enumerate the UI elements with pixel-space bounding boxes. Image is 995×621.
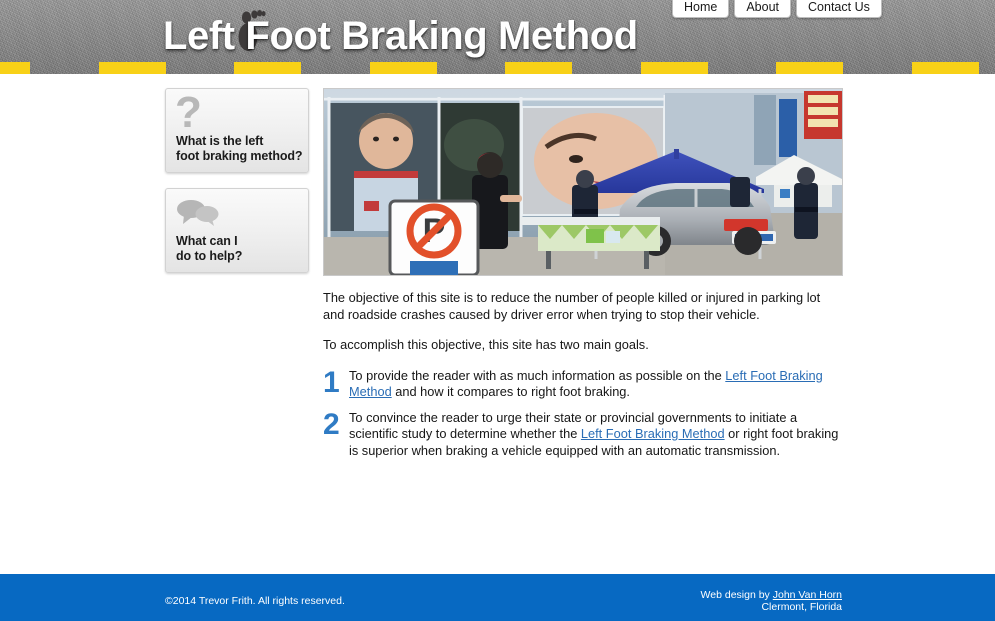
- nav-item-home[interactable]: Home: [672, 0, 729, 18]
- sidebar: ? What is the left foot braking method?: [165, 88, 309, 288]
- credit-prefix: Web design by: [701, 589, 773, 601]
- sidebar-item-label-line1: What is the left: [176, 134, 263, 148]
- intro-paragraph-2: To accomplish this objective, this site …: [323, 337, 843, 354]
- nav-item-contact-us[interactable]: Contact Us: [796, 0, 882, 18]
- left-foot-braking-method-link[interactable]: Left Foot Braking Method: [581, 426, 725, 441]
- goal-item-2: 2 To convince the reader to urge their s…: [323, 410, 843, 460]
- road-stripe-dash: [234, 62, 301, 74]
- main-region: ? What is the left foot braking method?: [0, 74, 995, 574]
- sidebar-item-label-line2: foot braking method?: [176, 149, 302, 163]
- road-stripe-dash: [370, 62, 437, 74]
- goals-list: 1 To provide the reader with as much inf…: [323, 368, 843, 460]
- two-column-layout: ? What is the left foot braking method?: [165, 88, 843, 468]
- credit-location: Clermont, Florida: [761, 601, 842, 613]
- road-stripe-band: [0, 62, 995, 74]
- sidebar-item-label-line1: What can I: [176, 234, 238, 248]
- web-design-credit: Web design by John Van Horn Clermont, Fl…: [701, 589, 842, 613]
- goal-number: 1: [323, 368, 349, 397]
- road-stripe-dash: [0, 62, 30, 74]
- sidebar-item-what-is-left-foot-braking[interactable]: ? What is the left foot braking method?: [165, 88, 309, 173]
- road-stripe-dash: [99, 62, 166, 74]
- footer-inner: ©2014 Trevor Frith. All rights reserved.…: [0, 574, 995, 621]
- goal-number: 2: [323, 410, 349, 439]
- nav-item-about-label: About: [746, 0, 779, 16]
- content-wrapper: ? What is the left foot braking method?: [165, 88, 843, 468]
- goal-text: To provide the reader with as much infor…: [349, 368, 843, 401]
- copyright-text: ©2014 Trevor Frith. All rights reserved.: [165, 595, 345, 607]
- hero-photo: P: [323, 88, 843, 276]
- nav-item-about[interactable]: About: [734, 0, 791, 18]
- page-title: Left Foot Braking Method: [163, 12, 638, 60]
- site-header: Home About Contact Us Left Foot Braking …: [0, 0, 995, 74]
- sidebar-item-label: What is the left foot braking method?: [176, 134, 302, 164]
- goal-text-before: To provide the reader with as much infor…: [349, 368, 725, 383]
- road-stripe-dash: [776, 62, 843, 74]
- nav-item-home-label: Home: [684, 0, 717, 16]
- site-footer: ©2014 Trevor Frith. All rights reserved.…: [0, 574, 995, 621]
- sidebar-item-label-line2: do to help?: [176, 249, 242, 263]
- question-mark-icon: ?: [175, 91, 202, 135]
- top-navigation: Home About Contact Us: [672, 0, 882, 18]
- article-column: P The objective of this site is to reduc…: [323, 88, 843, 468]
- goal-text-after: and how it compares to right foot brakin…: [392, 384, 630, 399]
- speech-bubbles-icon: [176, 199, 220, 232]
- sidebar-item-label: What can I do to help?: [176, 234, 242, 264]
- goal-item-1: 1 To provide the reader with as much inf…: [323, 368, 843, 401]
- site-title-block: Left Foot Braking Method: [163, 12, 638, 60]
- designer-link[interactable]: John Van Horn: [773, 589, 842, 601]
- road-stripe-dash: [641, 62, 708, 74]
- intro-paragraph-1: The objective of this site is to reduce …: [323, 290, 843, 323]
- road-stripe-dash: [912, 62, 979, 74]
- goal-text: To convince the reader to urge their sta…: [349, 410, 843, 460]
- sidebar-item-what-can-i-do-to-help[interactable]: What can I do to help?: [165, 188, 309, 273]
- road-stripe-dash: [505, 62, 572, 74]
- nav-item-contact-us-label: Contact Us: [808, 0, 870, 16]
